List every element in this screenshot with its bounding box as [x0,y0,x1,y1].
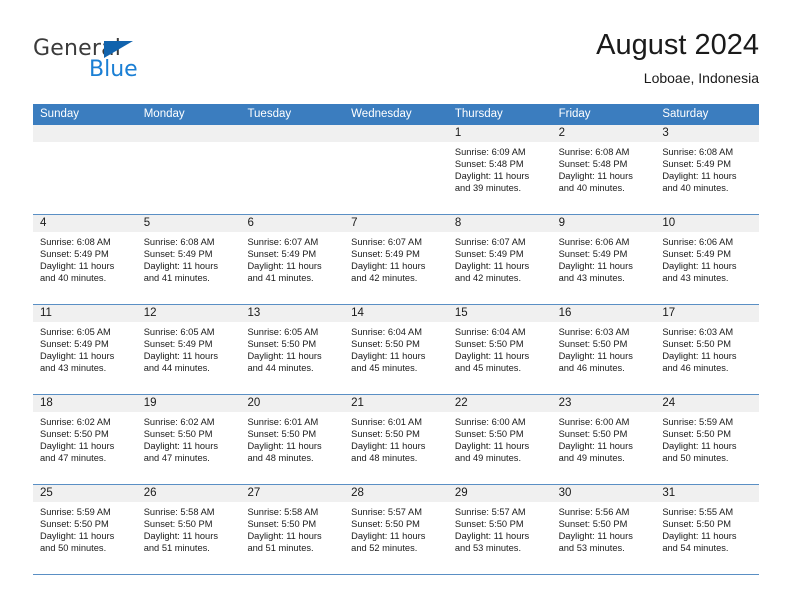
day-number: 23 [552,395,656,412]
sunrise-text: Sunrise: 6:06 AM [662,236,754,248]
weekday-header-saturday: Saturday [655,104,759,125]
sunset-text: Sunset: 5:50 PM [559,428,651,440]
daylight-text-line1: Daylight: 11 hours [144,530,236,542]
daylight-text-line1: Daylight: 11 hours [662,350,754,362]
day-info: Sunrise: 6:03 AM Sunset: 5:50 PM Dayligh… [552,322,656,374]
sunset-text: Sunset: 5:49 PM [662,248,754,260]
sunset-text: Sunset: 5:50 PM [351,338,443,350]
week-row: 4 Sunrise: 6:08 AM Sunset: 5:49 PM Dayli… [33,214,759,304]
daylight-text-line1: Daylight: 11 hours [559,440,651,452]
day-cell[interactable]: 26 Sunrise: 5:58 AM Sunset: 5:50 PM Dayl… [137,485,241,574]
daylight-text-line2: and 47 minutes. [40,452,132,464]
day-cell[interactable]: 23 Sunrise: 6:00 AM Sunset: 5:50 PM Dayl… [552,395,656,484]
day-info: Sunrise: 6:07 AM Sunset: 5:49 PM Dayligh… [344,232,448,284]
day-cell[interactable]: 12 Sunrise: 6:05 AM Sunset: 5:49 PM Dayl… [137,305,241,394]
day-number: 21 [344,395,448,412]
sunset-text: Sunset: 5:50 PM [247,338,339,350]
week-row: 25 Sunrise: 5:59 AM Sunset: 5:50 PM Dayl… [33,484,759,574]
weekday-header-wednesday: Wednesday [344,104,448,125]
sunrise-text: Sunrise: 5:58 AM [144,506,236,518]
daylight-text-line2: and 45 minutes. [351,362,443,374]
day-number: 28 [344,485,448,502]
daylight-text-line1: Daylight: 11 hours [351,440,443,452]
day-info: Sunrise: 6:00 AM Sunset: 5:50 PM Dayligh… [552,412,656,464]
sunrise-text: Sunrise: 6:07 AM [247,236,339,248]
sunset-text: Sunset: 5:50 PM [559,338,651,350]
day-number: 22 [448,395,552,412]
daylight-text-line2: and 43 minutes. [662,272,754,284]
daylight-text-line2: and 44 minutes. [247,362,339,374]
daylight-text-line1: Daylight: 11 hours [247,440,339,452]
day-cell[interactable]: 21 Sunrise: 6:01 AM Sunset: 5:50 PM Dayl… [344,395,448,484]
daylight-text-line1: Daylight: 11 hours [662,170,754,182]
daylight-text-line2: and 43 minutes. [40,362,132,374]
sunrise-text: Sunrise: 6:00 AM [559,416,651,428]
sunset-text: Sunset: 5:49 PM [40,248,132,260]
sunrise-text: Sunrise: 6:03 AM [662,326,754,338]
daylight-text-line1: Daylight: 11 hours [455,530,547,542]
daylight-text-line1: Daylight: 11 hours [559,170,651,182]
day-cell[interactable]: 30 Sunrise: 5:56 AM Sunset: 5:50 PM Dayl… [552,485,656,574]
calendar-bottom-rule [33,574,759,575]
day-number: 15 [448,305,552,322]
daylight-text-line2: and 46 minutes. [662,362,754,374]
day-cell[interactable]: 1 Sunrise: 6:09 AM Sunset: 5:48 PM Dayli… [448,125,552,214]
daylight-text-line2: and 43 minutes. [559,272,651,284]
title-block: August 2024 Loboae, Indonesia [596,28,759,88]
sunset-text: Sunset: 5:48 PM [455,158,547,170]
day-cell[interactable]: 22 Sunrise: 6:00 AM Sunset: 5:50 PM Dayl… [448,395,552,484]
sunrise-text: Sunrise: 6:01 AM [351,416,443,428]
daylight-text-line2: and 39 minutes. [455,182,547,194]
sunset-text: Sunset: 5:50 PM [455,338,547,350]
day-info: Sunrise: 6:07 AM Sunset: 5:49 PM Dayligh… [448,232,552,284]
day-info: Sunrise: 5:57 AM Sunset: 5:50 PM Dayligh… [344,502,448,554]
day-info: Sunrise: 6:01 AM Sunset: 5:50 PM Dayligh… [344,412,448,464]
daylight-text-line1: Daylight: 11 hours [351,350,443,362]
day-info: Sunrise: 6:05 AM Sunset: 5:49 PM Dayligh… [137,322,241,374]
daylight-text-line2: and 41 minutes. [144,272,236,284]
sunrise-text: Sunrise: 6:05 AM [144,326,236,338]
day-cell[interactable]: 3 Sunrise: 6:08 AM Sunset: 5:49 PM Dayli… [655,125,759,214]
day-number: 13 [240,305,344,322]
day-info: Sunrise: 6:03 AM Sunset: 5:50 PM Dayligh… [655,322,759,374]
day-number: 14 [344,305,448,322]
sunset-text: Sunset: 5:49 PM [662,158,754,170]
sunrise-text: Sunrise: 6:02 AM [144,416,236,428]
day-info: Sunrise: 6:09 AM Sunset: 5:48 PM Dayligh… [448,142,552,194]
day-cell [33,125,137,214]
sunrise-text: Sunrise: 6:08 AM [40,236,132,248]
weekday-header-sunday: Sunday [33,104,137,125]
day-cell[interactable]: 27 Sunrise: 5:58 AM Sunset: 5:50 PM Dayl… [240,485,344,574]
sunset-text: Sunset: 5:49 PM [351,248,443,260]
day-cell[interactable]: 2 Sunrise: 6:08 AM Sunset: 5:48 PM Dayli… [552,125,656,214]
day-cell[interactable]: 8 Sunrise: 6:07 AM Sunset: 5:49 PM Dayli… [448,215,552,304]
sunrise-text: Sunrise: 6:04 AM [351,326,443,338]
general-blue-logo[interactable]: General Blue [33,36,233,88]
day-cell[interactable]: 31 Sunrise: 5:55 AM Sunset: 5:50 PM Dayl… [655,485,759,574]
sunset-text: Sunset: 5:50 PM [40,518,132,530]
day-info: Sunrise: 6:07 AM Sunset: 5:49 PM Dayligh… [240,232,344,284]
day-cell[interactable]: 14 Sunrise: 6:04 AM Sunset: 5:50 PM Dayl… [344,305,448,394]
day-cell[interactable]: 13 Sunrise: 6:05 AM Sunset: 5:50 PM Dayl… [240,305,344,394]
daylight-text-line1: Daylight: 11 hours [40,350,132,362]
daylight-text-line2: and 48 minutes. [351,452,443,464]
sunrise-text: Sunrise: 5:57 AM [455,506,547,518]
daylight-text-line1: Daylight: 11 hours [144,350,236,362]
day-number: 6 [240,215,344,232]
day-number: 18 [33,395,137,412]
day-info: Sunrise: 6:01 AM Sunset: 5:50 PM Dayligh… [240,412,344,464]
sunrise-text: Sunrise: 5:58 AM [247,506,339,518]
day-cell [240,125,344,214]
weekday-header-tuesday: Tuesday [240,104,344,125]
day-info: Sunrise: 5:57 AM Sunset: 5:50 PM Dayligh… [448,502,552,554]
day-number: 4 [33,215,137,232]
day-number [344,125,448,142]
day-cell[interactable]: 7 Sunrise: 6:07 AM Sunset: 5:49 PM Dayli… [344,215,448,304]
page-subtitle-location: Loboae, Indonesia [596,68,759,88]
daylight-text-line1: Daylight: 11 hours [247,530,339,542]
logo-text-blue: Blue [89,57,138,82]
daylight-text-line1: Daylight: 11 hours [455,440,547,452]
sunset-text: Sunset: 5:50 PM [351,518,443,530]
daylight-text-line2: and 42 minutes. [455,272,547,284]
daylight-text-line2: and 51 minutes. [247,542,339,554]
weekday-header-row: Sunday Monday Tuesday Wednesday Thursday… [33,104,759,125]
day-number: 30 [552,485,656,502]
day-info: Sunrise: 6:08 AM Sunset: 5:49 PM Dayligh… [33,232,137,284]
calendar-grid: Sunday Monday Tuesday Wednesday Thursday… [33,104,759,575]
day-cell[interactable]: 16 Sunrise: 6:03 AM Sunset: 5:50 PM Dayl… [552,305,656,394]
sunset-text: Sunset: 5:49 PM [144,338,236,350]
daylight-text-line2: and 41 minutes. [247,272,339,284]
daylight-text-line1: Daylight: 11 hours [559,350,651,362]
daylight-text-line2: and 53 minutes. [559,542,651,554]
page-title: August 2024 [596,28,759,62]
sunrise-text: Sunrise: 6:07 AM [455,236,547,248]
day-cell[interactable]: 18 Sunrise: 6:02 AM Sunset: 5:50 PM Dayl… [33,395,137,484]
daylight-text-line1: Daylight: 11 hours [455,350,547,362]
day-number: 26 [137,485,241,502]
sunset-text: Sunset: 5:50 PM [247,428,339,440]
day-cell[interactable]: 19 Sunrise: 6:02 AM Sunset: 5:50 PM Dayl… [137,395,241,484]
sunset-text: Sunset: 5:50 PM [662,518,754,530]
sunrise-text: Sunrise: 6:04 AM [455,326,547,338]
day-number: 24 [655,395,759,412]
day-number: 27 [240,485,344,502]
day-info: Sunrise: 5:55 AM Sunset: 5:50 PM Dayligh… [655,502,759,554]
day-info: Sunrise: 6:04 AM Sunset: 5:50 PM Dayligh… [448,322,552,374]
daylight-text-line2: and 40 minutes. [559,182,651,194]
daylight-text-line1: Daylight: 11 hours [559,260,651,272]
sunrise-text: Sunrise: 6:06 AM [559,236,651,248]
daylight-text-line1: Daylight: 11 hours [559,530,651,542]
day-cell[interactable]: 6 Sunrise: 6:07 AM Sunset: 5:49 PM Dayli… [240,215,344,304]
day-cell[interactable]: 9 Sunrise: 6:06 AM Sunset: 5:49 PM Dayli… [552,215,656,304]
sunset-text: Sunset: 5:49 PM [144,248,236,260]
sunset-text: Sunset: 5:50 PM [144,518,236,530]
day-number: 10 [655,215,759,232]
weekday-header-thursday: Thursday [448,104,552,125]
sunrise-text: Sunrise: 5:59 AM [662,416,754,428]
daylight-text-line2: and 54 minutes. [662,542,754,554]
sunrise-text: Sunrise: 6:03 AM [559,326,651,338]
day-cell[interactable]: 4 Sunrise: 6:08 AM Sunset: 5:49 PM Dayli… [33,215,137,304]
day-info: Sunrise: 5:58 AM Sunset: 5:50 PM Dayligh… [137,502,241,554]
day-number [33,125,137,142]
week-row: 1 Sunrise: 6:09 AM Sunset: 5:48 PM Dayli… [33,125,759,214]
sunset-text: Sunset: 5:49 PM [40,338,132,350]
daylight-text-line1: Daylight: 11 hours [40,530,132,542]
day-info: Sunrise: 5:59 AM Sunset: 5:50 PM Dayligh… [33,502,137,554]
sunset-text: Sunset: 5:50 PM [351,428,443,440]
weekday-header-monday: Monday [137,104,241,125]
daylight-text-line1: Daylight: 11 hours [351,260,443,272]
sunrise-text: Sunrise: 5:57 AM [351,506,443,518]
day-number: 2 [552,125,656,142]
day-info: Sunrise: 6:02 AM Sunset: 5:50 PM Dayligh… [33,412,137,464]
day-number: 9 [552,215,656,232]
day-cell[interactable]: 28 Sunrise: 5:57 AM Sunset: 5:50 PM Dayl… [344,485,448,574]
calendar-page: General Blue August 2024 Loboae, Indones… [0,0,792,612]
day-cell[interactable]: 15 Sunrise: 6:04 AM Sunset: 5:50 PM Dayl… [448,305,552,394]
day-info: Sunrise: 5:58 AM Sunset: 5:50 PM Dayligh… [240,502,344,554]
day-cell[interactable]: 29 Sunrise: 5:57 AM Sunset: 5:50 PM Dayl… [448,485,552,574]
day-number: 11 [33,305,137,322]
daylight-text-line2: and 47 minutes. [144,452,236,464]
day-number: 3 [655,125,759,142]
daylight-text-line2: and 50 minutes. [662,452,754,464]
sunset-text: Sunset: 5:48 PM [559,158,651,170]
day-info: Sunrise: 6:05 AM Sunset: 5:50 PM Dayligh… [240,322,344,374]
day-number: 12 [137,305,241,322]
daylight-text-line1: Daylight: 11 hours [662,260,754,272]
day-number: 7 [344,215,448,232]
daylight-text-line1: Daylight: 11 hours [455,260,547,272]
sunrise-text: Sunrise: 6:08 AM [144,236,236,248]
daylight-text-line1: Daylight: 11 hours [40,440,132,452]
daylight-text-line1: Daylight: 11 hours [144,440,236,452]
daylight-text-line2: and 49 minutes. [455,452,547,464]
day-info: Sunrise: 5:56 AM Sunset: 5:50 PM Dayligh… [552,502,656,554]
daylight-text-line2: and 42 minutes. [351,272,443,284]
day-cell[interactable]: 5 Sunrise: 6:08 AM Sunset: 5:49 PM Dayli… [137,215,241,304]
daylight-text-line2: and 44 minutes. [144,362,236,374]
daylight-text-line2: and 40 minutes. [40,272,132,284]
daylight-text-line1: Daylight: 11 hours [662,530,754,542]
daylight-text-line2: and 45 minutes. [455,362,547,374]
daylight-text-line1: Daylight: 11 hours [40,260,132,272]
triangle-icon [104,41,133,58]
sunrise-text: Sunrise: 6:05 AM [247,326,339,338]
week-row: 18 Sunrise: 6:02 AM Sunset: 5:50 PM Dayl… [33,394,759,484]
sunset-text: Sunset: 5:50 PM [662,428,754,440]
day-info: Sunrise: 6:05 AM Sunset: 5:49 PM Dayligh… [33,322,137,374]
day-number: 16 [552,305,656,322]
day-info: Sunrise: 6:08 AM Sunset: 5:49 PM Dayligh… [655,142,759,194]
day-cell [137,125,241,214]
day-cell[interactable]: 24 Sunrise: 5:59 AM Sunset: 5:50 PM Dayl… [655,395,759,484]
daylight-text-line2: and 52 minutes. [351,542,443,554]
daylight-text-line2: and 48 minutes. [247,452,339,464]
sunrise-text: Sunrise: 6:07 AM [351,236,443,248]
week-row: 11 Sunrise: 6:05 AM Sunset: 5:49 PM Dayl… [33,304,759,394]
day-cell[interactable]: 25 Sunrise: 5:59 AM Sunset: 5:50 PM Dayl… [33,485,137,574]
sunrise-text: Sunrise: 6:02 AM [40,416,132,428]
day-cell[interactable]: 11 Sunrise: 6:05 AM Sunset: 5:49 PM Dayl… [33,305,137,394]
daylight-text-line2: and 50 minutes. [40,542,132,554]
day-info: Sunrise: 6:06 AM Sunset: 5:49 PM Dayligh… [655,232,759,284]
daylight-text-line1: Daylight: 11 hours [662,440,754,452]
day-number: 31 [655,485,759,502]
daylight-text-line2: and 46 minutes. [559,362,651,374]
sunrise-text: Sunrise: 5:55 AM [662,506,754,518]
page-header: General Blue August 2024 Loboae, Indones… [0,0,792,100]
sunrise-text: Sunrise: 6:00 AM [455,416,547,428]
sunset-text: Sunset: 5:50 PM [455,428,547,440]
day-number [137,125,241,142]
daylight-text-line2: and 53 minutes. [455,542,547,554]
sunrise-text: Sunrise: 6:01 AM [247,416,339,428]
sunrise-text: Sunrise: 6:08 AM [662,146,754,158]
day-number: 1 [448,125,552,142]
day-cell[interactable]: 10 Sunrise: 6:06 AM Sunset: 5:49 PM Dayl… [655,215,759,304]
day-info: Sunrise: 6:00 AM Sunset: 5:50 PM Dayligh… [448,412,552,464]
daylight-text-line1: Daylight: 11 hours [351,530,443,542]
sunset-text: Sunset: 5:50 PM [455,518,547,530]
sunrise-text: Sunrise: 5:59 AM [40,506,132,518]
daylight-text-line2: and 40 minutes. [662,182,754,194]
daylight-text-line1: Daylight: 11 hours [455,170,547,182]
sunset-text: Sunset: 5:49 PM [247,248,339,260]
day-number [240,125,344,142]
sunset-text: Sunset: 5:49 PM [455,248,547,260]
sunset-text: Sunset: 5:50 PM [40,428,132,440]
day-number: 5 [137,215,241,232]
daylight-text-line2: and 51 minutes. [144,542,236,554]
day-info: Sunrise: 6:08 AM Sunset: 5:48 PM Dayligh… [552,142,656,194]
day-number: 20 [240,395,344,412]
day-number: 8 [448,215,552,232]
daylight-text-line1: Daylight: 11 hours [144,260,236,272]
sunrise-text: Sunrise: 6:05 AM [40,326,132,338]
day-info: Sunrise: 6:08 AM Sunset: 5:49 PM Dayligh… [137,232,241,284]
day-number: 25 [33,485,137,502]
day-cell [344,125,448,214]
day-number: 19 [137,395,241,412]
day-info: Sunrise: 6:06 AM Sunset: 5:49 PM Dayligh… [552,232,656,284]
day-cell[interactable]: 17 Sunrise: 6:03 AM Sunset: 5:50 PM Dayl… [655,305,759,394]
day-info: Sunrise: 5:59 AM Sunset: 5:50 PM Dayligh… [655,412,759,464]
weekday-header-friday: Friday [552,104,656,125]
day-info: Sunrise: 6:04 AM Sunset: 5:50 PM Dayligh… [344,322,448,374]
sunrise-text: Sunrise: 6:09 AM [455,146,547,158]
day-number: 29 [448,485,552,502]
day-cell[interactable]: 20 Sunrise: 6:01 AM Sunset: 5:50 PM Dayl… [240,395,344,484]
sunset-text: Sunset: 5:50 PM [559,518,651,530]
daylight-text-line2: and 49 minutes. [559,452,651,464]
sunset-text: Sunset: 5:49 PM [559,248,651,260]
day-info: Sunrise: 6:02 AM Sunset: 5:50 PM Dayligh… [137,412,241,464]
sunset-text: Sunset: 5:50 PM [144,428,236,440]
day-number: 17 [655,305,759,322]
daylight-text-line1: Daylight: 11 hours [247,260,339,272]
sunrise-text: Sunrise: 5:56 AM [559,506,651,518]
sunset-text: Sunset: 5:50 PM [662,338,754,350]
daylight-text-line1: Daylight: 11 hours [247,350,339,362]
sunrise-text: Sunrise: 6:08 AM [559,146,651,158]
sunset-text: Sunset: 5:50 PM [247,518,339,530]
